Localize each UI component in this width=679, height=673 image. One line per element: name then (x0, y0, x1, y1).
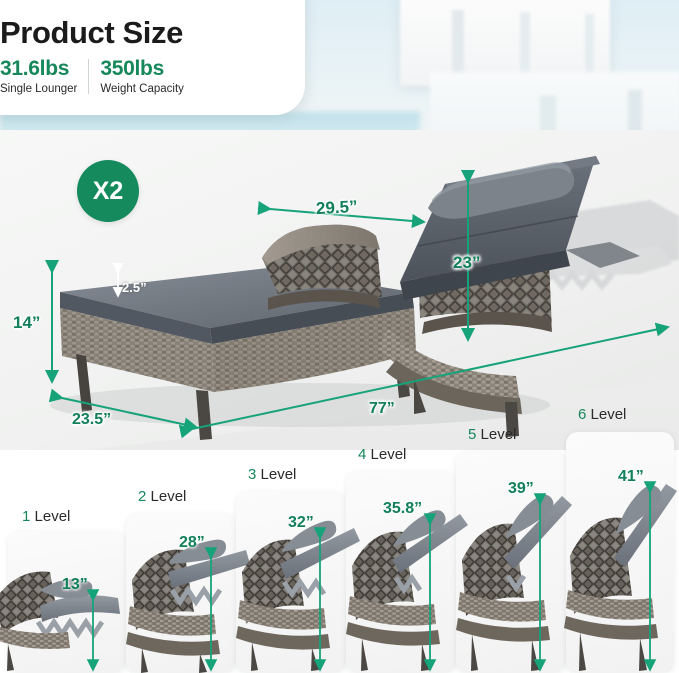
infographic-stage: 29.5” 23” 14” 2.5” 23.5” 77” Product Siz… (0, 0, 679, 673)
dimension-depth: 23.5” (72, 411, 111, 429)
level-height: 28” (179, 534, 205, 552)
dimension-annotations: 29.5” 23” 14” 2.5” 23.5” 77” (0, 0, 679, 460)
recline-levels-section: 1 Level 2 Level 3 Level 4 Level 5 Level … (0, 430, 679, 673)
dimension-back-height: 23” (453, 253, 480, 273)
level-height: 39” (508, 480, 534, 498)
level-number: 1 (22, 508, 30, 525)
level-title: 3 Level (248, 466, 296, 483)
level-number: 2 (138, 488, 146, 505)
level-suffix: Level (151, 488, 187, 505)
dimension-cushion-thickness: 2.5” (122, 280, 147, 295)
dimension-overall-height: 14” (13, 313, 40, 333)
level-height: 41” (618, 468, 644, 486)
level-title: 2 Level (138, 488, 186, 505)
level-title: 1 Level (22, 508, 70, 525)
level-height: 35.8” (383, 500, 422, 518)
level-suffix: Level (261, 466, 297, 483)
dimension-seat-width: 29.5” (316, 197, 359, 219)
level-number: 3 (248, 466, 256, 483)
level-height: 32” (288, 514, 314, 532)
level-height: 13” (62, 576, 88, 594)
dimension-length: 77” (369, 400, 395, 418)
level-suffix: Level (35, 508, 71, 525)
